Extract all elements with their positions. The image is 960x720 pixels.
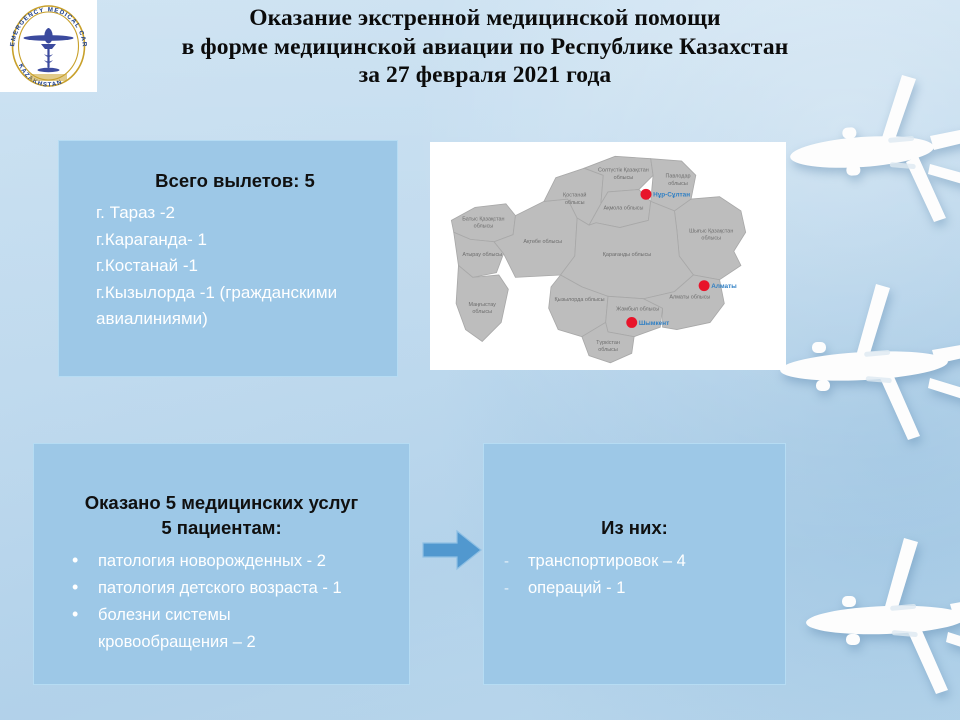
title-line-3: за 27 февраля 2021 года bbox=[105, 61, 865, 90]
breakdown-list: транспортировок – 4 операций - 1 bbox=[484, 548, 785, 602]
map-region-label: Ақтөбе облысы bbox=[523, 239, 562, 245]
flight-destination-list: г. Тараз -2 г.Караганда- 1 г.Костанай -1… bbox=[59, 200, 397, 333]
kazakhstan-map: Батыс Қазақстан облысы Атырау облысы Маң… bbox=[430, 142, 786, 370]
service-bullet-continuation: кровообращения – 2 bbox=[68, 629, 409, 656]
title-line-2: в форме медицинской авиации по Республик… bbox=[105, 33, 865, 62]
organization-logo: EMERGENCY MEDICAL CARE OF KAZAKHSTAN bbox=[0, 0, 97, 92]
city-marker-nur-sultan bbox=[641, 189, 652, 200]
flight-item: г.Караганда- 1 bbox=[96, 227, 397, 254]
total-flights-heading: Всего вылетов: 5 bbox=[59, 169, 397, 193]
map-region-label: облысы bbox=[598, 347, 618, 353]
map-region-label: Жамбыл облысы bbox=[616, 307, 659, 313]
map-region-label: Маңғыстау bbox=[469, 302, 497, 308]
map-region-label: Атырау облысы bbox=[462, 252, 502, 258]
map-svg: Батыс Қазақстан облысы Атырау облысы Маң… bbox=[430, 142, 786, 370]
flight-item: г.Костанай -1 bbox=[96, 253, 397, 280]
map-region-label: Қызылорда облысы bbox=[555, 297, 605, 303]
map-region-label: облысы bbox=[668, 181, 688, 187]
map-region-label: Қостанай bbox=[563, 192, 586, 199]
breakdown-item: операций - 1 bbox=[494, 575, 785, 602]
map-region-label: облысы bbox=[701, 235, 721, 241]
city-label-shymkent: Шымкент bbox=[639, 320, 669, 327]
service-bullet: патология детского возраста - 1 bbox=[68, 575, 409, 602]
city-marker-almaty bbox=[699, 280, 710, 291]
breakdown-item: транспортировок – 4 bbox=[494, 548, 785, 575]
map-region-label: Солтүстік Қазақстан bbox=[598, 168, 649, 174]
city-marker-shymkent bbox=[626, 317, 637, 328]
flight-item: г. Тараз -2 bbox=[96, 200, 397, 227]
city-label-almaty: Алматы bbox=[711, 283, 737, 290]
flight-item: г.Кызылорда -1 (гражданскими bbox=[96, 280, 397, 307]
map-region-label: Ақмола облысы bbox=[603, 206, 643, 212]
breakdown-heading: Из них: bbox=[484, 516, 785, 540]
map-region-label: Батыс Қазақстан bbox=[462, 216, 504, 222]
breakdown-panel: Из них: транспортировок – 4 операций - 1 bbox=[483, 443, 786, 685]
map-region-label: Шығыс Қазақстан bbox=[689, 228, 733, 234]
map-region-label: облысы bbox=[614, 175, 634, 181]
flight-item: авиалиниями) bbox=[96, 306, 397, 333]
services-panel: Оказано 5 медицинских услуг 5 пациентам:… bbox=[33, 443, 410, 685]
total-flights-panel: Всего вылетов: 5 г. Тараз -2 г.Караганда… bbox=[58, 140, 398, 377]
city-label-nur-sultan: Нұр-Сұлтан bbox=[653, 192, 690, 199]
airplane-photo-bottom bbox=[798, 530, 960, 720]
map-region-label: Түркістан bbox=[596, 340, 620, 346]
map-region-label: Қарағанды облысы bbox=[603, 252, 652, 258]
services-heading-line-2: 5 пациентам: bbox=[34, 515, 409, 540]
title-line-1: Оказание экстренной медицинской помощи bbox=[105, 4, 865, 33]
service-bullet: болезни системы bbox=[68, 602, 409, 629]
slide-canvas: EMERGENCY MEDICAL CARE OF KAZAKHSTAN Ока… bbox=[0, 0, 960, 720]
airplane-photo-middle bbox=[772, 272, 960, 472]
map-region-label: облысы bbox=[565, 200, 585, 206]
map-region-label: Павлодар bbox=[665, 174, 690, 180]
service-bullet: патология новорожденных - 2 bbox=[68, 548, 409, 575]
map-region-label: облысы bbox=[472, 309, 492, 315]
flow-arrow-right-icon bbox=[421, 527, 483, 573]
map-region-label: облысы bbox=[474, 224, 494, 230]
services-bullet-list: патология новорожденных - 2 патология де… bbox=[34, 548, 409, 656]
services-heading-line-1: Оказано 5 медицинских услуг bbox=[34, 490, 409, 515]
page-title: Оказание экстренной медицинской помощи в… bbox=[105, 4, 865, 90]
map-region-label: Алматы облысы bbox=[669, 295, 710, 301]
